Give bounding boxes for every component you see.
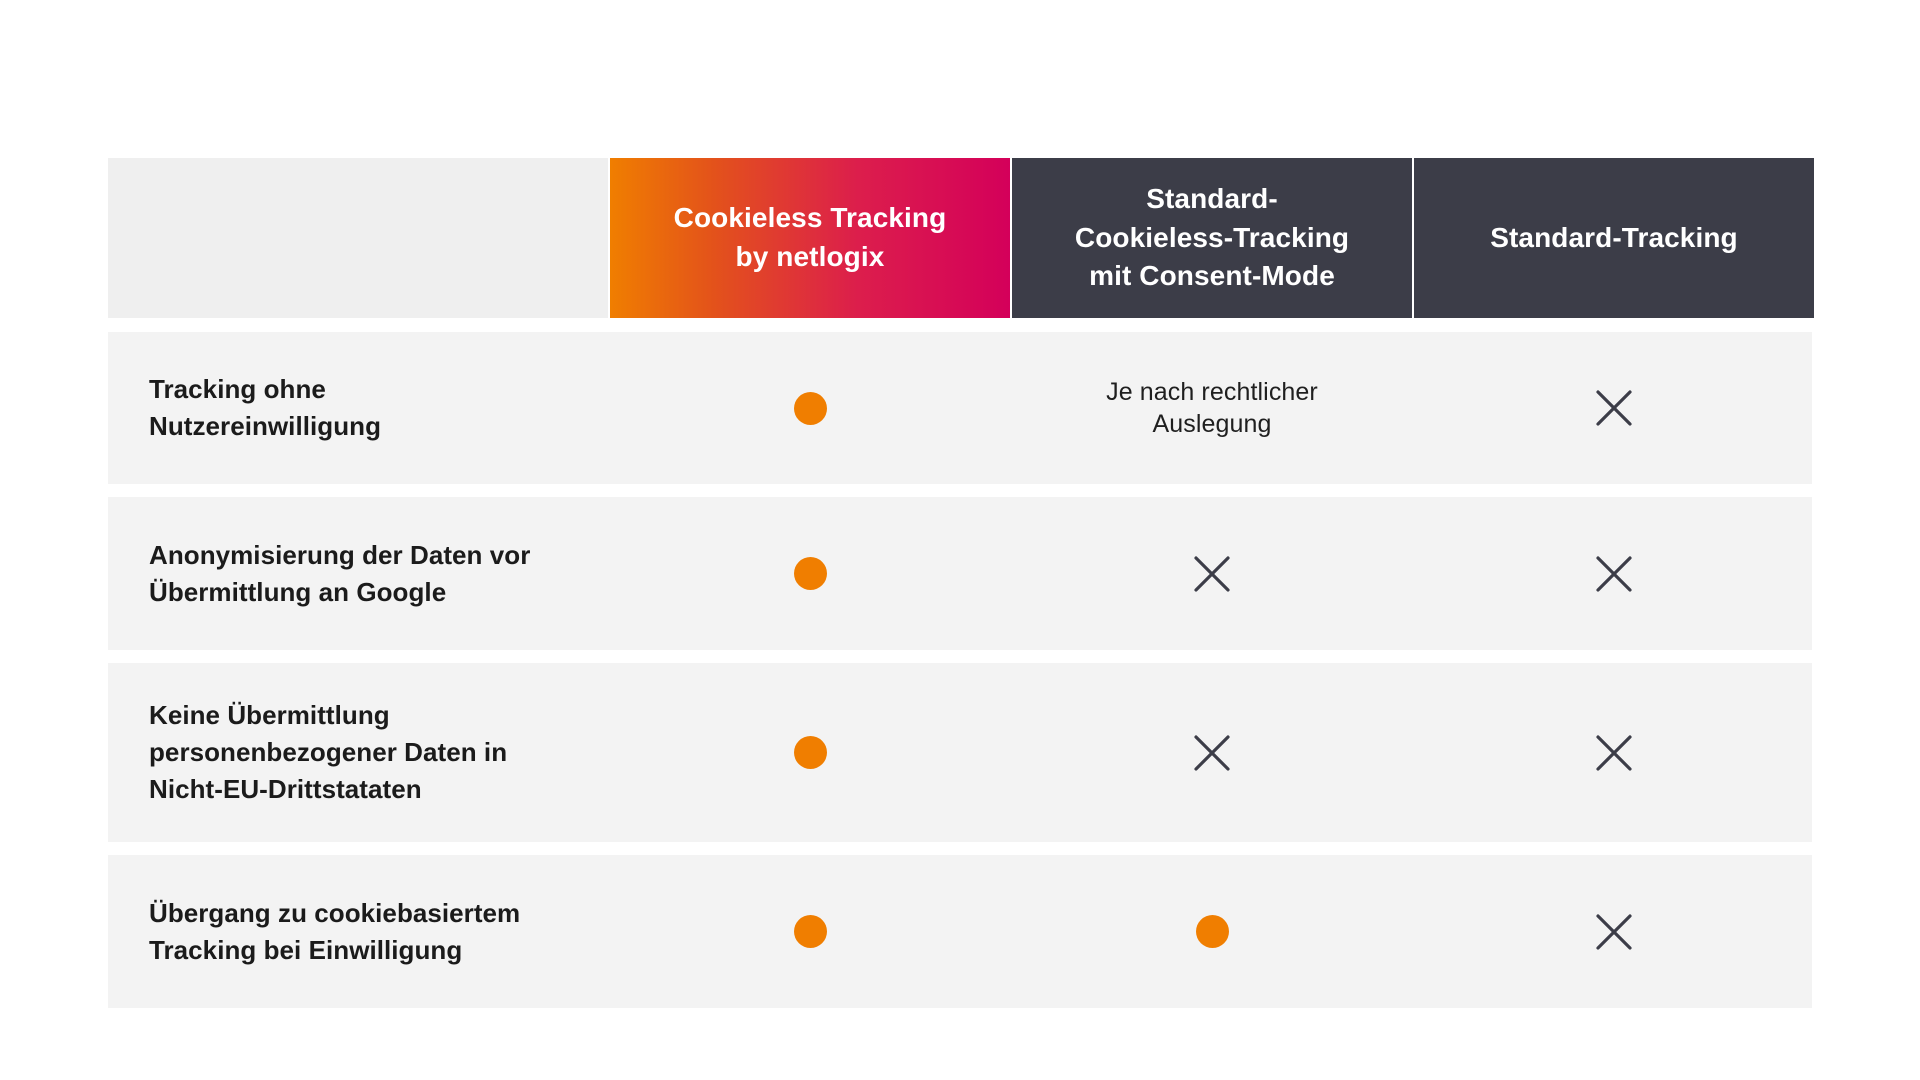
header-label-standard-cookieless-line3: mit Consent-Mode xyxy=(1089,260,1335,291)
feature-label-line1: Keine Übermittlung xyxy=(149,700,390,730)
table-row: Keine Übermittlung personenbezogener Dat… xyxy=(108,663,1812,842)
feature-label: Tracking ohne Nutzereinwilligung xyxy=(149,371,381,445)
value-cell-standard-tracking xyxy=(1414,855,1814,1008)
value-cell-standard-tracking xyxy=(1414,497,1814,650)
header-label-netlogix: Cookieless Tracking by netlogix xyxy=(674,199,947,276)
value-cell-netlogix xyxy=(610,497,1010,650)
feature-cell: Keine Übermittlung personenbezogener Dat… xyxy=(108,663,608,842)
filled-circle-icon xyxy=(794,392,827,425)
feature-label-line2: Tracking bei Einwilligung xyxy=(149,935,462,965)
cross-icon xyxy=(1593,911,1635,953)
feature-label-line2: Nutzereinwilligung xyxy=(149,411,381,441)
feature-label-line2: Übermittlung an Google xyxy=(149,577,446,607)
value-cell-standard-cookieless xyxy=(1012,855,1412,1008)
cross-icon xyxy=(1593,553,1635,595)
header-label-netlogix-line2: by netlogix xyxy=(736,241,885,272)
feature-cell: Tracking ohne Nutzereinwilligung xyxy=(108,332,608,484)
value-note-line1: Je nach rechtlicher xyxy=(1106,378,1318,406)
header-cell-cookieless-netlogix: Cookieless Tracking by netlogix xyxy=(610,158,1010,318)
value-cell-standard-cookieless xyxy=(1012,663,1412,842)
feature-label-line3: Nicht-EU-Drittstataten xyxy=(149,774,422,804)
feature-label: Keine Übermittlung personenbezogener Dat… xyxy=(149,697,507,808)
table-row: Tracking ohne Nutzereinwilligung Je nach… xyxy=(108,332,1812,484)
value-cell-standard-cookieless xyxy=(1012,497,1412,650)
cross-icon xyxy=(1593,732,1635,774)
value-note-line2: Auslegung xyxy=(1152,410,1271,438)
header-cell-standard-cookieless: Standard- Cookieless-Tracking mit Consen… xyxy=(1012,158,1412,318)
feature-label-line1: Tracking ohne xyxy=(149,374,326,404)
feature-cell: Anonymisierung der Daten vor Übermittlun… xyxy=(108,497,608,650)
value-cell-netlogix xyxy=(610,663,1010,842)
cross-icon xyxy=(1191,553,1233,595)
header-label-standard-cookieless-line2: Cookieless-Tracking xyxy=(1075,222,1349,253)
cross-icon xyxy=(1191,732,1233,774)
filled-circle-icon xyxy=(794,915,827,948)
feature-label-line1: Übergang zu cookiebasiertem xyxy=(149,898,520,928)
filled-circle-icon xyxy=(1196,915,1229,948)
value-cell-standard-cookieless: Je nach rechtlicher Auslegung xyxy=(1012,332,1412,484)
table-row: Anonymisierung der Daten vor Übermittlun… xyxy=(108,497,1812,650)
feature-label-line2: personenbezogener Daten in xyxy=(149,737,507,767)
value-cell-netlogix xyxy=(610,855,1010,1008)
filled-circle-icon xyxy=(794,736,827,769)
cross-icon xyxy=(1593,387,1635,429)
header-cell-standard-tracking: Standard-Tracking xyxy=(1414,158,1814,318)
feature-label: Anonymisierung der Daten vor Übermittlun… xyxy=(149,537,530,611)
page-root: Cookieless Tracking by netlogix Standard… xyxy=(0,0,1920,1080)
header-label-standard-cookieless: Standard- Cookieless-Tracking mit Consen… xyxy=(1075,180,1349,296)
header-label-standard-tracking: Standard-Tracking xyxy=(1490,219,1738,258)
header-label-standard-cookieless-line1: Standard- xyxy=(1146,183,1278,214)
feature-label-line1: Anonymisierung der Daten vor xyxy=(149,540,530,570)
table-row: Übergang zu cookiebasiertem Tracking bei… xyxy=(108,855,1812,1008)
value-cell-standard-tracking xyxy=(1414,663,1814,842)
feature-label: Übergang zu cookiebasiertem Tracking bei… xyxy=(149,895,520,969)
table-header-row: Cookieless Tracking by netlogix Standard… xyxy=(108,158,1812,318)
value-cell-netlogix xyxy=(610,332,1010,484)
feature-cell: Übergang zu cookiebasiertem Tracking bei… xyxy=(108,855,608,1008)
comparison-table: Cookieless Tracking by netlogix Standard… xyxy=(108,158,1812,1021)
header-label-netlogix-line1: Cookieless Tracking xyxy=(674,202,947,233)
filled-circle-icon xyxy=(794,557,827,590)
value-note-text: Je nach rechtlicher Auslegung xyxy=(1106,376,1318,441)
header-cell-blank xyxy=(108,158,608,318)
value-cell-standard-tracking xyxy=(1414,332,1814,484)
